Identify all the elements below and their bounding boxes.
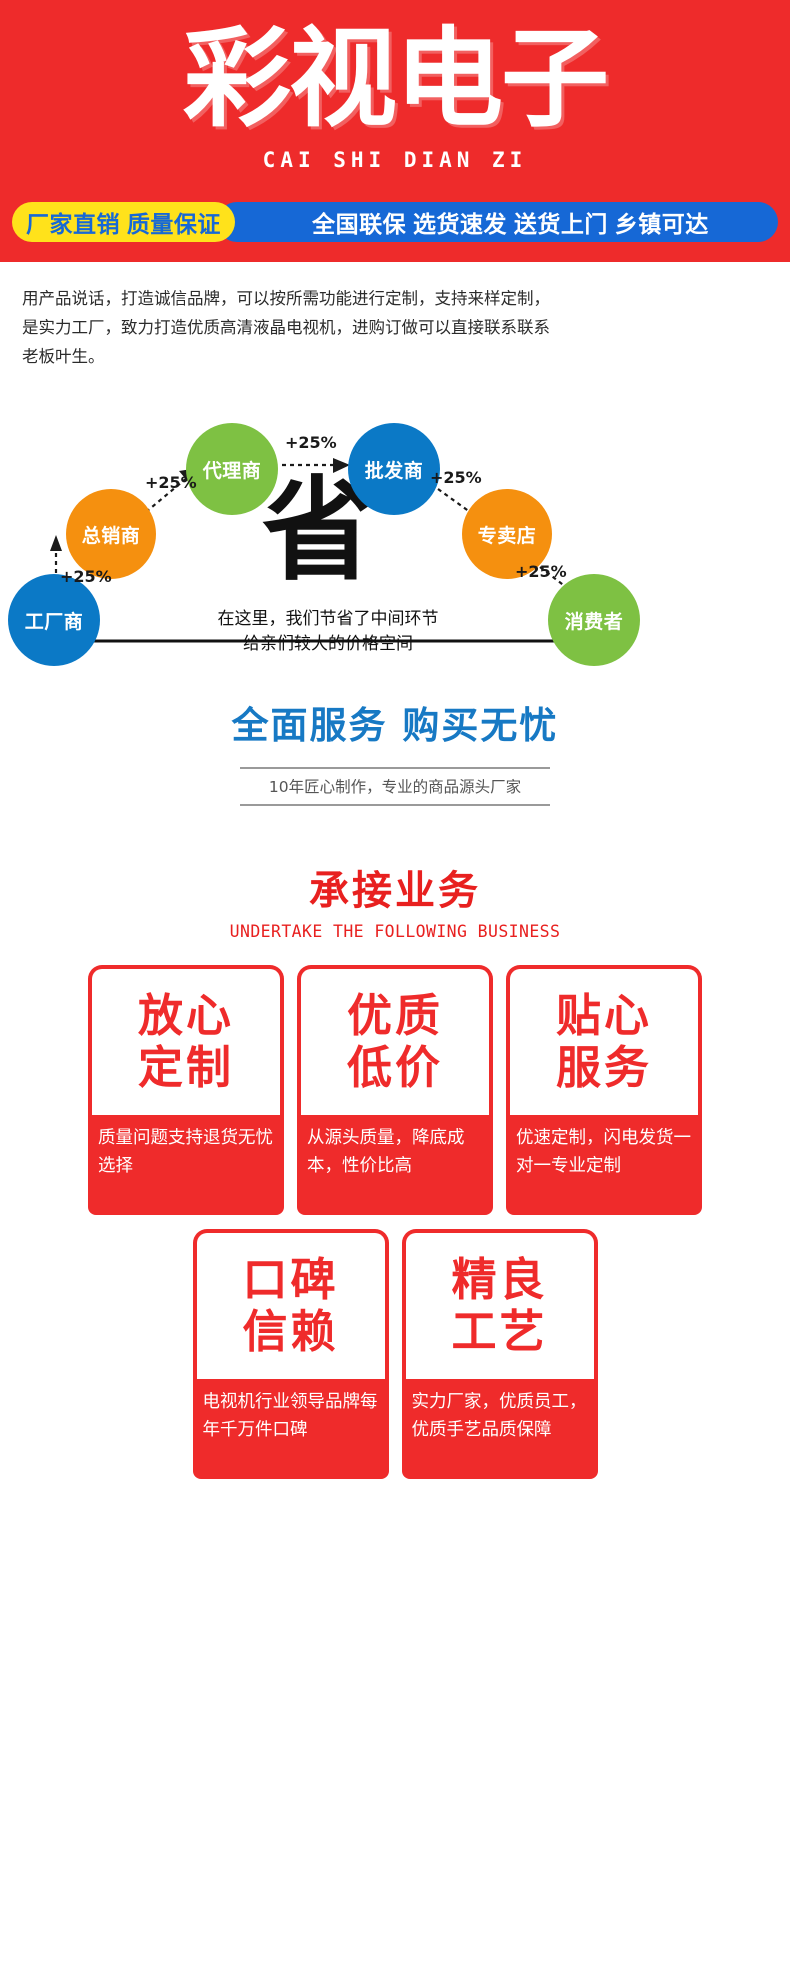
business-card: 放心 定制 质量问题支持退货无忧选择 [88,965,284,1215]
business-card-description: 从源头质量，降底成本，性价比高 [297,1115,493,1215]
business-cards-row-1: 放心 定制 质量问题支持退货无忧选择 优质 低价 从源头质量，降底成本，性价比高… [0,965,790,1215]
business-card-heading: 放心 定制 [88,965,284,1115]
service-subtitle: 10年匠心制作，专业的商品源头厂家 [240,775,550,797]
flow-node-wholesaler: 批发商 [348,423,440,515]
distribution-flow-diagram: 工厂商 总销商 代理商 批发商 专卖店 消费者 +25% +25% +25% +… [0,389,790,689]
business-card-heading-line-1: 优质 [347,990,443,1042]
business-card-heading-line-2: 定制 [138,1042,234,1094]
brand-header: 彩视电子 CAI SHI DIAN ZI 厂家直销 质量保证 全国联保 选货速发… [0,0,790,262]
business-card-heading-line-1: 口碑 [242,1254,338,1306]
flow-node-consumer: 消费者 [548,574,640,666]
intro-line-1: 用产品说话，打造诚信品牌，可以按所需功能进行定制，支持来样定制， [22,284,768,313]
business-card-heading-line-1: 精良 [451,1254,547,1306]
business-card: 口碑 信赖 电视机行业领导品牌每年千万件口碑 [193,1229,389,1479]
business-section-title-en: UNDERTAKE THE FOLLOWING BUSINESS [0,922,790,941]
markup-label-1: +25% [60,567,112,586]
business-cards-row-2: 口碑 信赖 电视机行业领导品牌每年千万件口碑 精良 工艺 实力厂家，优质员工，优… [0,1229,790,1479]
flow-node-factory: 工厂商 [8,574,100,666]
flow-bottom-message: 在这里，我们节省了中间环节 给亲们较大的价格空间 [178,607,478,657]
service-section-title: 全面服务 购买无忧 [0,695,790,749]
business-section-title: 承接业务 [0,858,790,916]
product-detail-page: 彩视电子 CAI SHI DIAN ZI 厂家直销 质量保证 全国联保 选货速发… [0,0,790,1479]
business-card-heading-line-2: 信赖 [242,1306,338,1358]
business-card-heading: 贴心 服务 [506,965,702,1115]
intro-line-2: 是实力工厂，致力打造优质高清液晶电视机，进购订做可以直接联系联系 [22,313,768,342]
business-card: 精良 工艺 实力厂家，优质员工，优质手艺品质保障 [402,1229,598,1479]
flow-node-distributor: 总销商 [66,489,156,579]
business-card-description: 电视机行业领导品牌每年千万件口碑 [193,1379,389,1479]
markup-label-5: +25% [515,562,567,581]
intro-line-3: 老板叶生。 [22,342,768,371]
brand-pinyin: CAI SHI DIAN ZI [0,148,790,172]
business-card-heading-line-1: 贴心 [556,990,652,1042]
business-card-description: 优速定制，闪电发货一对一专业定制 [506,1115,702,1215]
markup-label-3: +25% [285,433,337,452]
business-card-description: 质量问题支持退货无忧选择 [88,1115,284,1215]
promo-badge-row: 厂家直销 质量保证 全国联保 选货速发 送货上门 乡镇可达 [12,202,778,242]
intro-paragraph: 用产品说话，打造诚信品牌，可以按所需功能进行定制，支持来样定制， 是实力工厂，致… [0,262,790,371]
badge-nationwide-service: 全国联保 选货速发 送货上门 乡镇可达 [217,202,778,242]
business-card-description: 实力厂家，优质员工，优质手艺品质保障 [402,1379,598,1479]
business-card-heading: 精良 工艺 [402,1229,598,1379]
brand-logo-text: 彩视电子 [0,0,790,142]
business-card-heading-line-2: 低价 [347,1042,443,1094]
markup-label-2: +25% [145,473,197,492]
business-card-heading-line-1: 放心 [138,990,234,1042]
flow-bottom-line-1: 在这里，我们节省了中间环节 [178,607,478,632]
business-card-heading-line-2: 服务 [556,1042,652,1094]
flow-bottom-line-2: 给亲们较大的价格空间 [178,632,478,657]
business-card: 优质 低价 从源头质量，降底成本，性价比高 [297,965,493,1215]
business-card-heading: 优质 低价 [297,965,493,1115]
badge-factory-direct: 厂家直销 质量保证 [12,202,235,242]
flow-node-agent: 代理商 [186,423,278,515]
business-card-heading: 口碑 信赖 [193,1229,389,1379]
markup-label-4: +25% [430,468,482,487]
business-card-heading-line-2: 工艺 [451,1306,547,1358]
service-subtitle-frame: 10年匠心制作，专业的商品源头厂家 [240,767,550,806]
business-card: 贴心 服务 优速定制，闪电发货一对一专业定制 [506,965,702,1215]
